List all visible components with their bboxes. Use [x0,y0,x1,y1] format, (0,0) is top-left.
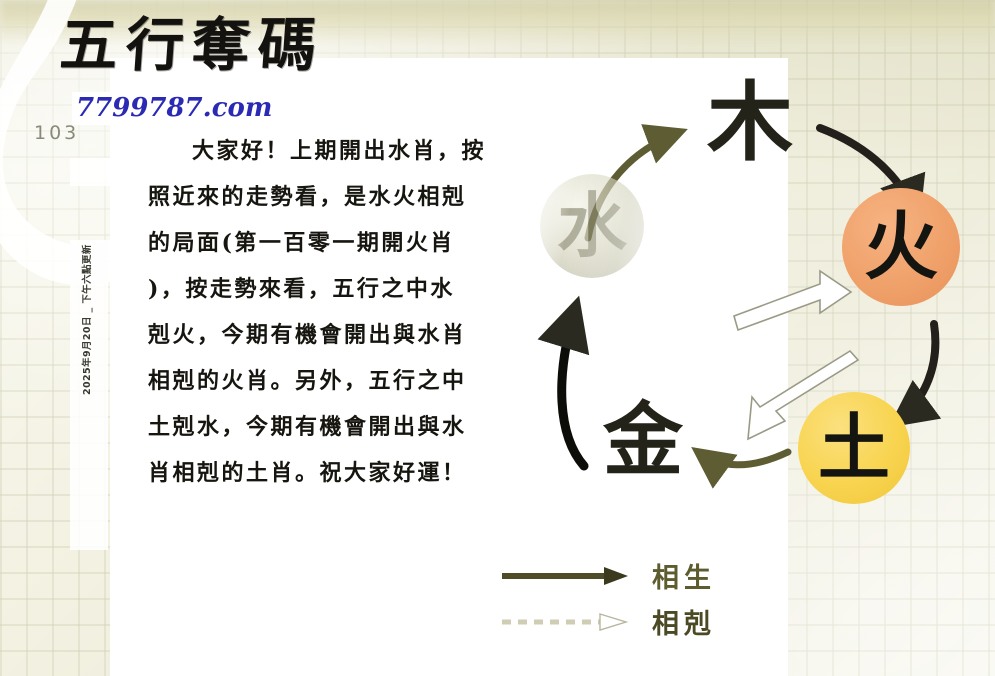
arrow-fire-to-earth [896,324,935,422]
arrow-water-restrains-fire [734,271,851,330]
arrow-earth-to-metal [698,452,788,465]
element-metal: 金 [588,400,698,480]
arrow-metal-to-water [562,306,584,466]
element-earth: 土 [798,392,910,504]
article-line: 土剋水，今期有機會開出與水 [148,404,508,450]
site-url[interactable]: 7799787.com [72,92,278,125]
masthead: 五行奪碼 7799787.com [60,16,390,96]
legend-label-restraint: 相剋 [652,602,716,641]
article-line: )，按走勢來看，五行之中水 [148,266,508,312]
article-line: 照近來的走勢看，是水火相剋 [148,174,508,220]
solid-arrow-icon [500,565,630,587]
element-water: 水 [540,174,644,278]
update-timestamp: 2025年9月20日 _ 下午六點更新 [79,244,93,395]
article-line: 剋火，今期有機會開出與水肖 [148,312,508,358]
article-line: 的局面(第一百零一期開火肖 [148,220,508,266]
hollow-arrow-icon [500,611,630,633]
legend-label-generation: 相生 [652,556,716,595]
article-line: 肖相剋的土肖。祝大家好運！ [148,450,508,496]
page-title: 五行奪碼 [58,16,326,74]
legend-row-restraint: 相剋 [500,602,716,641]
element-wood: 木 [695,80,805,166]
article-line: 大家好！上期開出水肖，按 [148,128,508,174]
element-fire: 火 [842,188,960,306]
article-body: 大家好！上期開出水肖，按 照近來的走勢看，是水火相剋 的局面(第一百零一期開火肖… [148,128,508,496]
page-root: 五行奪碼 7799787.com 103 2025年9月20日 _ 下午六點更新… [0,0,995,676]
legend-row-generation: 相生 [500,556,716,595]
article-line: 相剋的火肖。另外，五行之中 [148,358,508,404]
five-elements-diagram: 木 火 土 金 水 [520,70,990,540]
diagram-legend: 相生 相剋 [500,548,760,658]
issue-number: 103 [34,122,79,144]
